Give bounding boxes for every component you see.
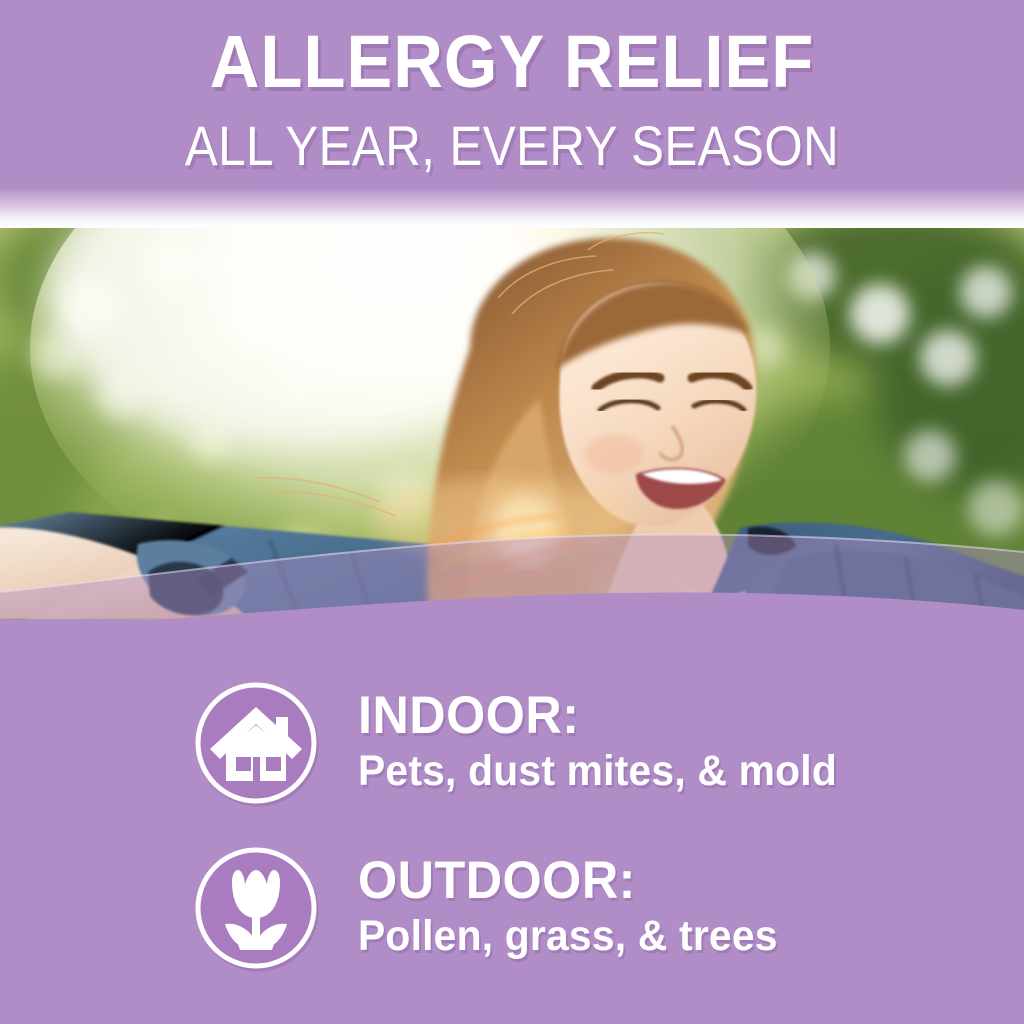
flower-icon — [192, 844, 320, 972]
poster-root: ALLERGY RELIEF ALL YEAR, EVERY SEASON — [0, 0, 1024, 1024]
page-subtitle: ALL YEAR, EVERY SEASON — [61, 118, 962, 174]
house-icon — [192, 679, 320, 807]
page-title: ALLERGY RELIEF — [36, 25, 988, 99]
indoor-description: Pets, dust mites, & mold — [358, 747, 837, 795]
outdoor-heading: OUTDOOR: — [358, 854, 778, 908]
indoor-text: INDOOR: Pets, dust mites, & mold — [358, 689, 862, 795]
allergen-sections: INDOOR: Pets, dust mites, & mold — [0, 660, 1024, 990]
indoor-heading: INDOOR: — [358, 689, 837, 743]
outdoor-description: Pollen, grass, & trees — [358, 912, 778, 960]
outdoor-text: OUTDOOR: Pollen, grass, & trees — [358, 854, 800, 960]
header-banner: ALLERGY RELIEF ALL YEAR, EVERY SEASON — [0, 0, 1024, 228]
hero-photo — [0, 228, 1024, 620]
section-outdoor: OUTDOOR: Pollen, grass, & trees — [0, 825, 1024, 990]
section-indoor: INDOOR: Pets, dust mites, & mold — [0, 660, 1024, 825]
